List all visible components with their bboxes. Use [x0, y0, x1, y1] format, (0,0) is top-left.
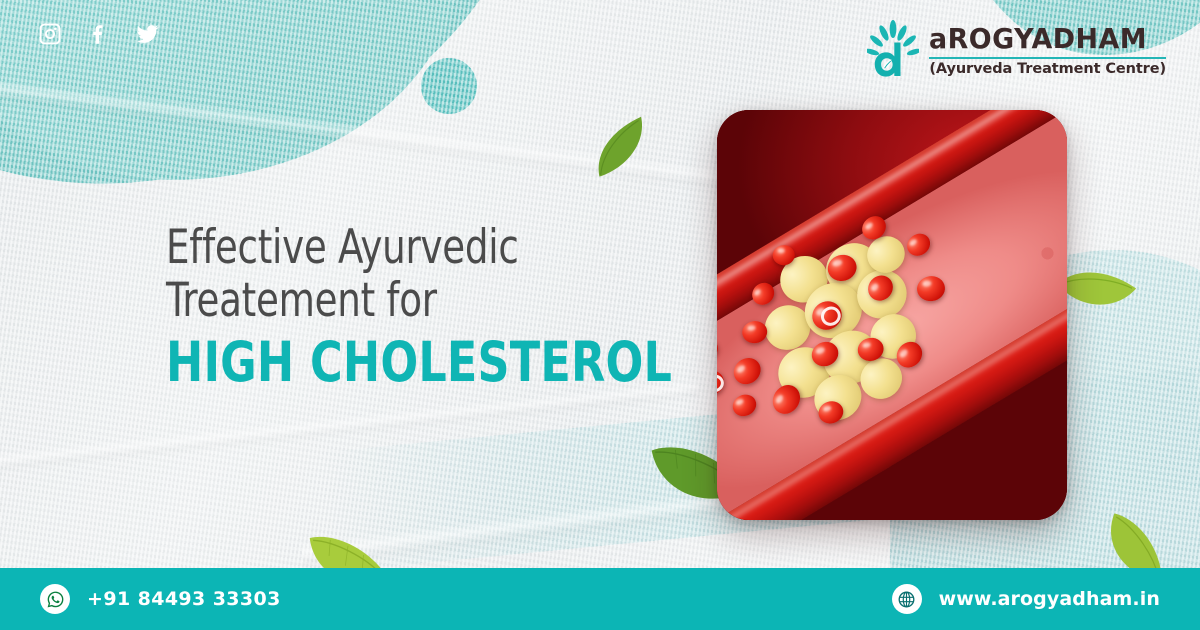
whatsapp-icon: [40, 584, 70, 614]
facebook-icon[interactable]: [87, 22, 111, 46]
website-url: www.arogyadham.in: [939, 588, 1160, 610]
brand-name: aROGYADHAM: [929, 25, 1156, 53]
globe-icon: [892, 584, 922, 614]
phone-number: +91 84493 33303: [87, 588, 281, 610]
brand-rule: [929, 57, 1166, 59]
headline-line-1: Effective Ayurvedic: [166, 222, 661, 275]
headline-accent: HIGH CHOLESTEROL: [166, 331, 672, 395]
teal-circle-accent: [421, 58, 477, 114]
promo-banner: aROGYADHAM (Ayurveda Treatment Centre) E…: [0, 0, 1200, 630]
artery-cross-section: [717, 110, 1067, 520]
phone-contact[interactable]: +91 84493 33303: [40, 584, 281, 614]
instagram-icon[interactable]: [38, 22, 62, 46]
headline-line-2: Treatement for: [166, 275, 661, 328]
leaf-top-center: [581, 113, 662, 183]
brand-logo-text: aROGYADHAM (Ayurveda Treatment Centre): [929, 25, 1166, 78]
brand-logo[interactable]: aROGYADHAM (Ayurveda Treatment Centre): [867, 20, 1166, 82]
headline-block: Effective Ayurvedic Treatement for HIGH …: [166, 222, 728, 395]
ayurveda-leaf-a-icon: [867, 20, 919, 82]
website-contact[interactable]: www.arogyadham.in: [892, 584, 1160, 614]
artery-cholesterol-photo: [717, 110, 1067, 520]
brand-tagline: (Ayurveda Treatment Centre): [929, 62, 1166, 78]
social-links: [38, 22, 160, 46]
twitter-icon[interactable]: [136, 22, 160, 46]
footer-bar: +91 84493 33303 www.arogyadham.in: [0, 568, 1200, 630]
